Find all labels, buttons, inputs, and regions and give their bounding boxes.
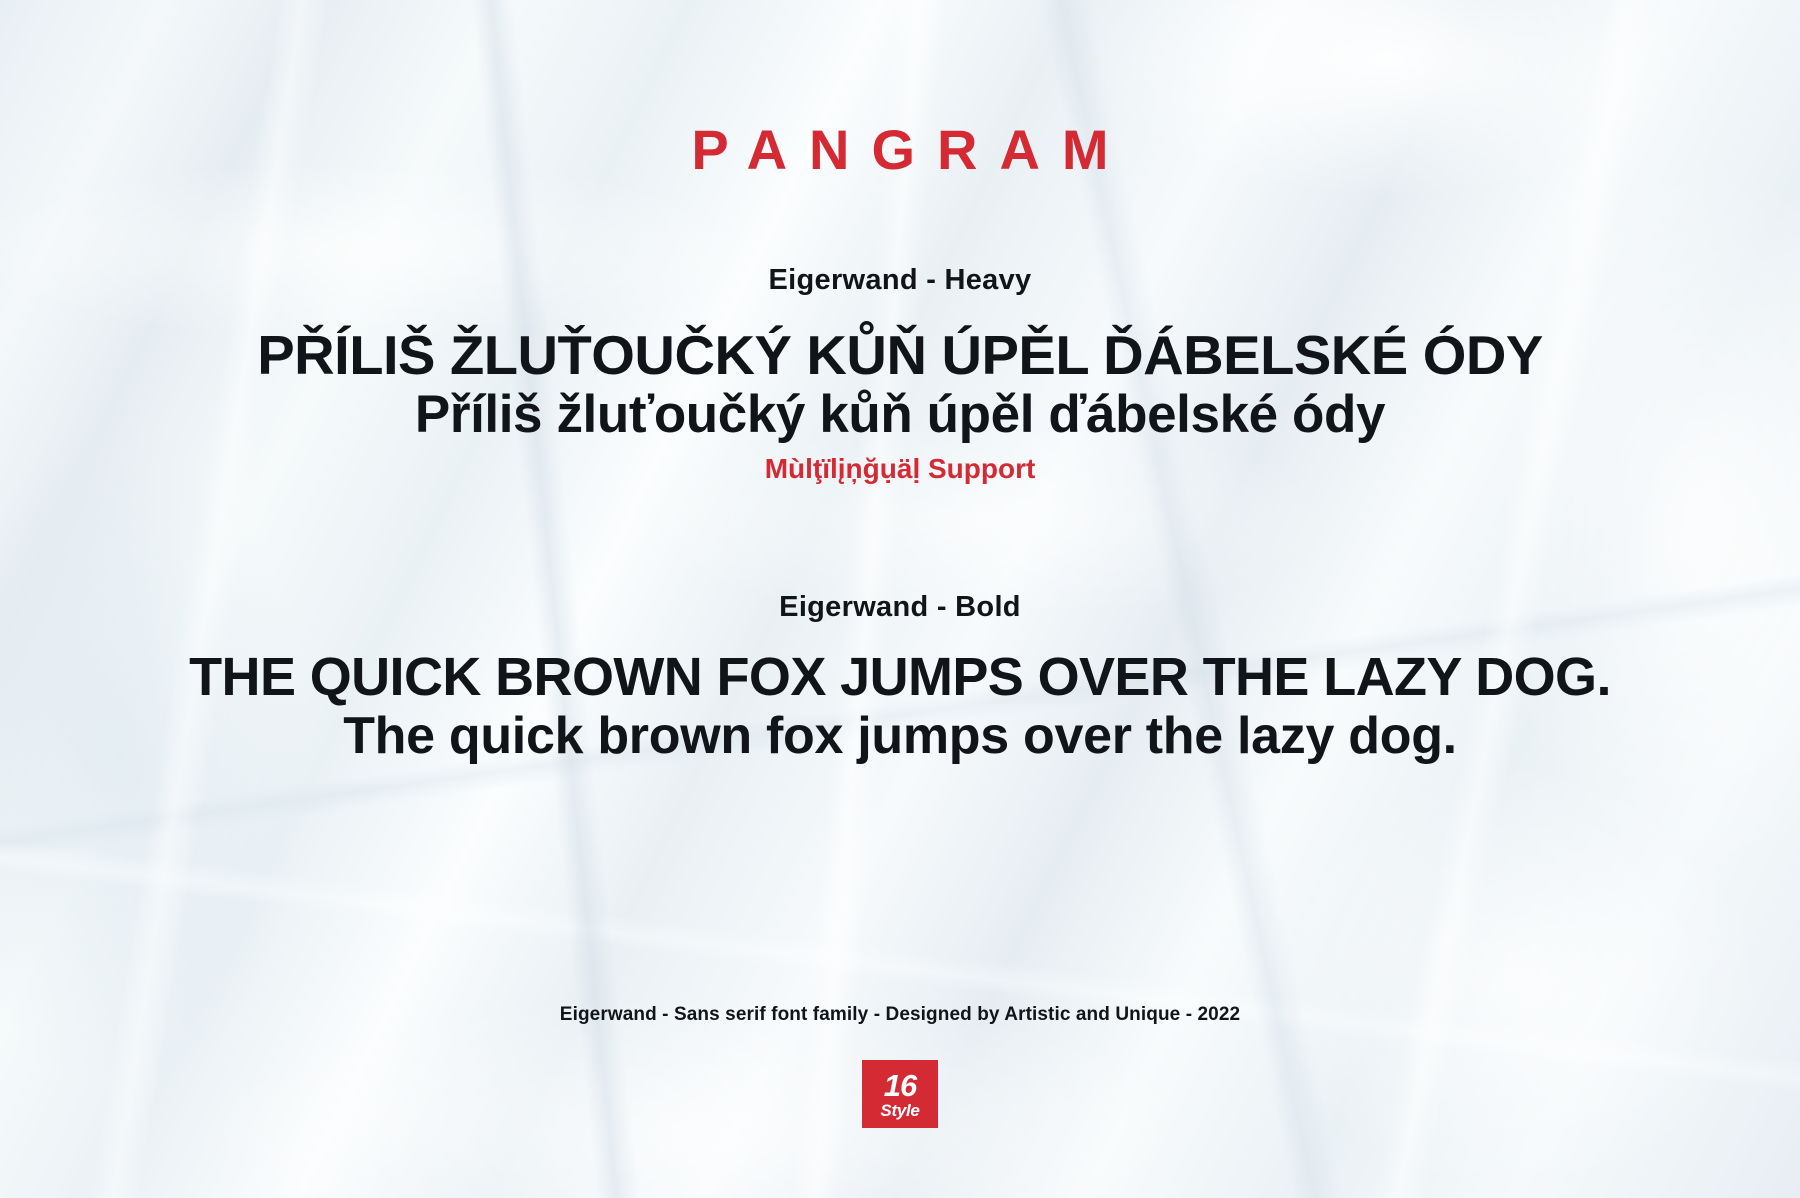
footer-credit-line: Eigerwand - Sans serif font family - Des…	[0, 1005, 1800, 1024]
page-title: PANGRAM	[0, 122, 1800, 178]
style-label-bold: Eigerwand - Bold	[0, 593, 1800, 622]
pangram-uppercase-heavy: PŘÍLIŠ ŽLUŤOUČKÝ KŮŇ ÚPĚL ĎÁBELSKÉ ÓDY	[0, 326, 1800, 385]
multilingual-support-note: Mùlţïlįņğụäḷ Support	[0, 455, 1800, 483]
pangram-lowercase-bold: The quick brown fox jumps over the lazy …	[0, 708, 1800, 764]
pangram-uppercase-bold: THE QUICK BROWN FOX JUMPS OVER THE LAZY …	[0, 648, 1800, 706]
logo-number-text: 16	[884, 1070, 916, 1101]
sixteen-style-logo: 16 Style	[862, 1060, 938, 1128]
font-specimen-page: PANGRAM Eigerwand - Heavy PŘÍLIŠ ŽLUŤOUČ…	[0, 0, 1800, 1198]
pangram-lowercase-heavy: Příliš žluťoučký kůň úpěl ďábelské ódy	[0, 386, 1800, 443]
logo-word-text: Style	[880, 1102, 919, 1119]
style-label-heavy: Eigerwand - Heavy	[0, 266, 1800, 295]
